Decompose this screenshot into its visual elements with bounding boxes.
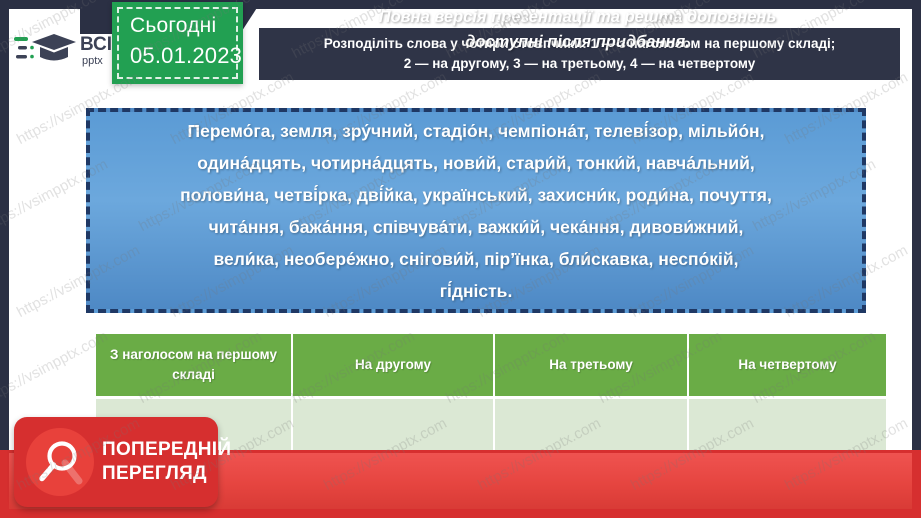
word-list-text: Перемо́га, земля, зру́чний, стадіо́н, че…	[170, 115, 782, 307]
preview-badge-text: ПОПЕРЕДНІЙ ПЕРЕГЛЯД	[102, 438, 231, 486]
purchase-banner-line-2: доступні після придбання.	[250, 30, 905, 55]
word-line: вели́ка, необере́жно, снігови́й, пір’їнк…	[180, 243, 772, 275]
purchase-banner-text: Повна версія презентації та решта доповн…	[250, 5, 905, 55]
svg-text:pptx: pptx	[82, 55, 103, 67]
word-line: полови́на, четві́рка, дві́йка, українськ…	[180, 179, 772, 211]
slide-root: ВСІМ pptx Сьогодні 05.01.2023 Розподіліт…	[0, 0, 921, 518]
magnifier-icon	[26, 428, 94, 496]
today-label: Сьогодні	[126, 11, 231, 41]
preview-badge-line-1: ПОПЕРЕДНІЙ	[102, 438, 231, 462]
word-line: чита́ння, бажа́ння, співчува́ти, важки́й…	[180, 211, 772, 243]
today-date: 05.01.2023	[126, 41, 231, 71]
today-date-box: Сьогодні 05.01.2023	[112, 2, 243, 84]
purchase-banner-line-1: Повна версія презентації та решта доповн…	[250, 5, 905, 30]
table-column-header-3: На третьому	[494, 334, 688, 398]
word-line: одина́дцять, чотирна́дцять, нови́й, стар…	[180, 147, 772, 179]
table-column-header-4: На четвертому	[688, 334, 886, 398]
preview-badge-line-2: ПЕРЕГЛЯД	[102, 462, 231, 486]
table-header-row: З наголосом на першому складі На другому…	[96, 334, 886, 398]
table-column-header-2: На другому	[292, 334, 494, 398]
word-line: Перемо́га, земля, зру́чний, стадіо́н, че…	[180, 115, 772, 147]
preview-badge[interactable]: ПОПЕРЕДНІЙ ПЕРЕГЛЯД	[14, 417, 218, 507]
word-list-box: Перемо́га, земля, зру́чний, стадіо́н, че…	[86, 108, 866, 313]
task-instruction-line-2: 2 — на другому, 3 — на третьому, 4 — на …	[324, 54, 836, 74]
word-line: гі́дність.	[180, 275, 772, 307]
table-column-header-1: З наголосом на першому складі	[96, 334, 292, 398]
